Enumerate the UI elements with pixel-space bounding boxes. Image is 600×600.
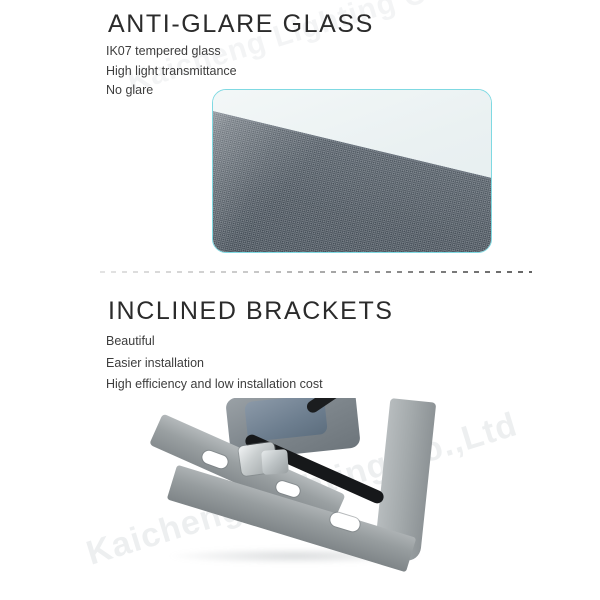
product-photo-inclined-bracket — [150, 398, 470, 580]
feature-list-inclined-brackets: Beautiful Easier installation High effic… — [106, 331, 323, 396]
section-heading-anti-glare-glass: ANTI-GLARE GLASS — [108, 9, 374, 39]
chrome-bolt-nut-secondary — [261, 449, 289, 475]
list-item: IK07 tempered glass — [106, 42, 237, 62]
list-item: Easier installation — [106, 353, 323, 375]
list-item: Beautiful — [106, 331, 323, 353]
list-item: High light transmittance — [106, 62, 237, 82]
glass-photo-content — [213, 90, 491, 252]
list-item: High efficiency and low installation cos… — [106, 374, 323, 396]
product-photo-anti-glare-glass — [212, 89, 492, 253]
product-feature-page: Kaicheng Lighting Co.,Ltd ANTI-GLARE GLA… — [0, 0, 600, 600]
section-divider — [100, 271, 532, 273]
section-heading-inclined-brackets: INCLINED BRACKETS — [108, 296, 394, 326]
